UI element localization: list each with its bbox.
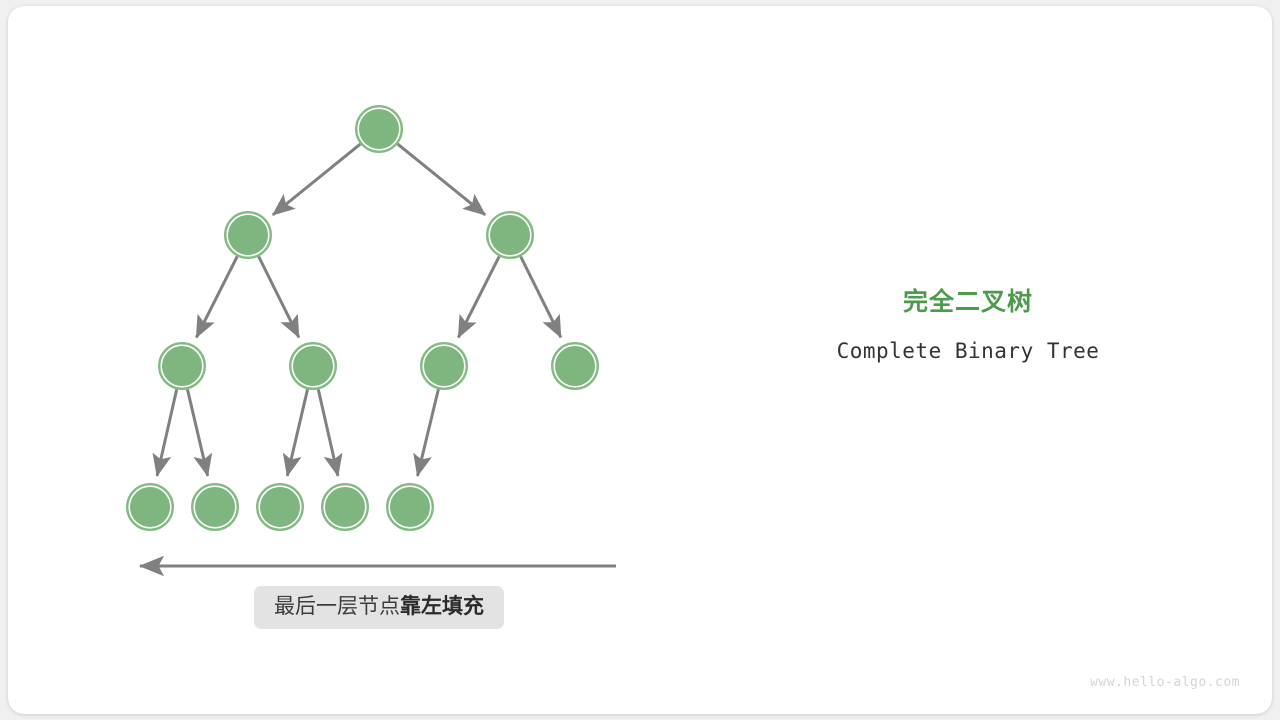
- tree-edge: [273, 144, 360, 215]
- tree-node-core: [196, 488, 234, 526]
- tree-edge-layer: [157, 144, 561, 476]
- tree-node: [159, 343, 205, 389]
- tree-node-core: [391, 488, 429, 526]
- tree-node: [387, 484, 433, 530]
- tree-node: [127, 484, 173, 530]
- tree-node: [552, 343, 598, 389]
- tree-edge: [398, 144, 485, 215]
- tree-node-core: [261, 488, 299, 526]
- legend-block: 完全二叉树 Complete Binary Tree: [768, 290, 1168, 362]
- tree-edge: [157, 389, 177, 475]
- caption-text-normal: 最后一层节点: [274, 595, 400, 618]
- tree-node-core: [425, 347, 463, 385]
- tree-node-core: [131, 488, 169, 526]
- tree-node-core: [229, 216, 267, 254]
- tree-node: [487, 212, 533, 258]
- tree-edge: [187, 389, 207, 475]
- tree-node: [192, 484, 238, 530]
- tree-edge: [259, 256, 299, 337]
- caption-text-bold: 靠左填充: [400, 595, 484, 618]
- diagram-title: 完全二叉树: [768, 290, 1168, 315]
- tree-node-core: [294, 347, 332, 385]
- tree-node: [356, 106, 402, 152]
- tree-edge: [418, 389, 439, 476]
- tree-edge: [196, 256, 237, 337]
- tree-edge: [458, 256, 499, 337]
- tree-node: [290, 343, 336, 389]
- tree-node-layer: [127, 106, 598, 530]
- tree-edge: [318, 389, 338, 475]
- tree-edge: [521, 256, 561, 337]
- tree-node-core: [360, 110, 398, 148]
- tree-node: [322, 484, 368, 530]
- caption-badge: 最后一层节点靠左填充: [254, 586, 504, 629]
- caption-wrap: 最后一层节点靠左填充: [226, 586, 532, 629]
- tree-node: [225, 212, 271, 258]
- tree-node-core: [556, 347, 594, 385]
- diagram-subtitle: Complete Binary Tree: [768, 341, 1168, 362]
- tree-node-core: [326, 488, 364, 526]
- tree-node-core: [163, 347, 201, 385]
- tree-edge: [287, 389, 307, 475]
- tree-node: [421, 343, 467, 389]
- tree-node: [257, 484, 303, 530]
- tree-node-core: [491, 216, 529, 254]
- watermark: www.hello-algo.com: [1040, 676, 1240, 689]
- diagram-canvas: 完全二叉树 Complete Binary Tree 最后一层节点靠左填充 ww…: [0, 0, 1280, 720]
